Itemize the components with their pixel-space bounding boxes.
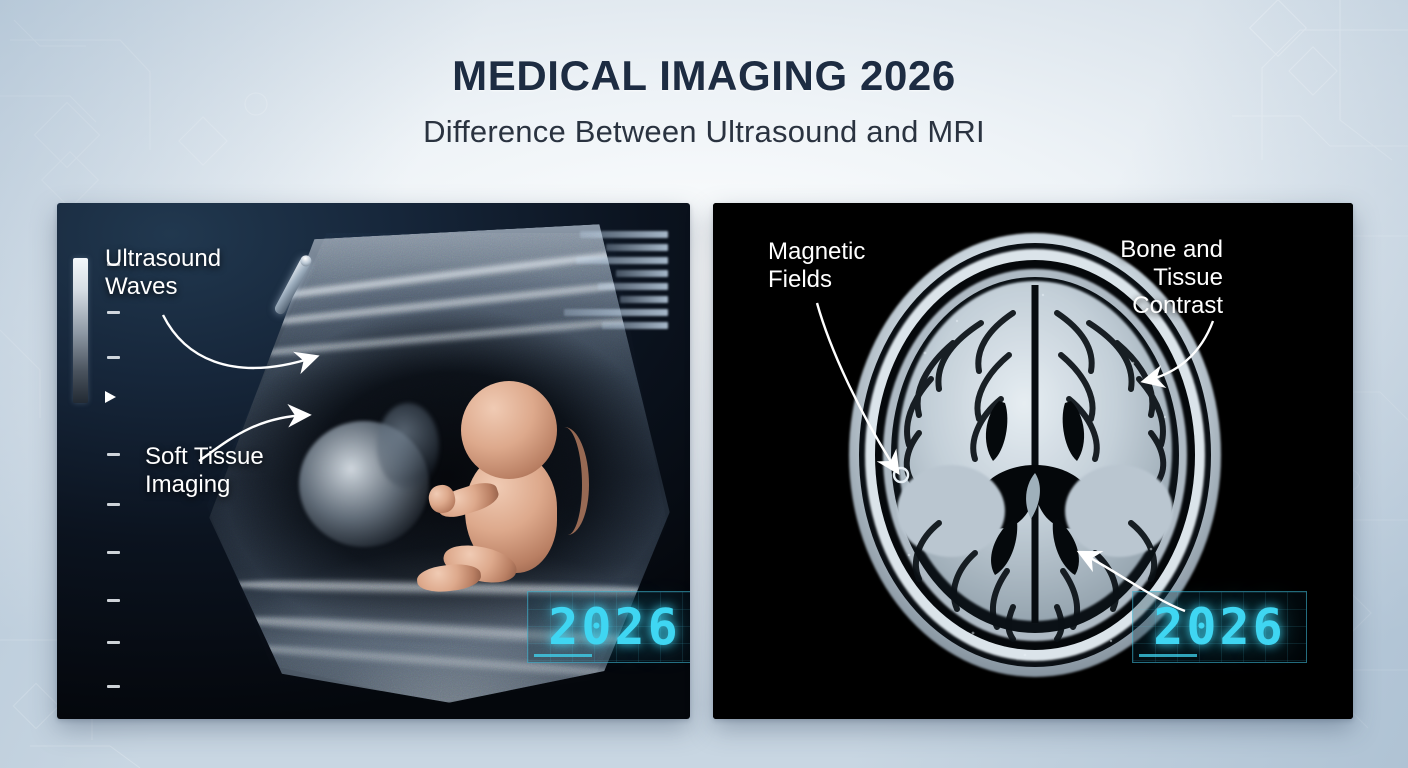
focus-marker-icon bbox=[105, 391, 116, 403]
header: MEDICAL IMAGING 2026 Difference Between … bbox=[0, 0, 1408, 150]
depth-tick bbox=[107, 453, 120, 456]
page-title: MEDICAL IMAGING 2026 bbox=[0, 52, 1408, 100]
depth-tick bbox=[107, 641, 120, 644]
ultrasound-panel[interactable]: 2026 Ultrasound Waves Soft Tissue Imagin… bbox=[57, 203, 690, 719]
badge-year-label: 2026 bbox=[1133, 592, 1306, 662]
grayscale-calibration-bar bbox=[73, 258, 88, 403]
depth-tick bbox=[107, 503, 120, 506]
page-subtitle: Difference Between Ultrasound and MRI bbox=[0, 114, 1408, 150]
depth-tick bbox=[107, 311, 120, 314]
fetus-lower-leg bbox=[416, 562, 482, 595]
badge-year-label: 2026 bbox=[528, 592, 690, 662]
callout-magnetic-fields: Magnetic Fields bbox=[768, 238, 865, 294]
hud-accent-bar bbox=[1139, 654, 1197, 657]
hud-accent-bar bbox=[534, 654, 592, 657]
left-temporal-lobe bbox=[897, 465, 1005, 557]
mri-panel[interactable]: 2026 Magnetic Fields Bone and Tissue Con… bbox=[713, 203, 1353, 719]
callout-bone-and-tissue-contrast: Bone and Tissue Contrast bbox=[1043, 236, 1223, 319]
depth-tick bbox=[107, 551, 120, 554]
callout-soft-tissue-imaging: Soft Tissue Imaging bbox=[145, 443, 264, 499]
right-temporal-lobe bbox=[1065, 465, 1173, 557]
fetus-image bbox=[403, 381, 591, 613]
callout-ultrasound-waves: Ultrasound Waves bbox=[105, 245, 221, 301]
depth-tick bbox=[107, 356, 120, 359]
machine-readout-text bbox=[558, 231, 668, 335]
depth-tick bbox=[107, 599, 120, 602]
year-badge-ultrasound: 2026 bbox=[527, 591, 690, 663]
fetus-head bbox=[461, 381, 557, 479]
year-badge-mri: 2026 bbox=[1132, 591, 1307, 663]
depth-tick bbox=[107, 685, 120, 688]
